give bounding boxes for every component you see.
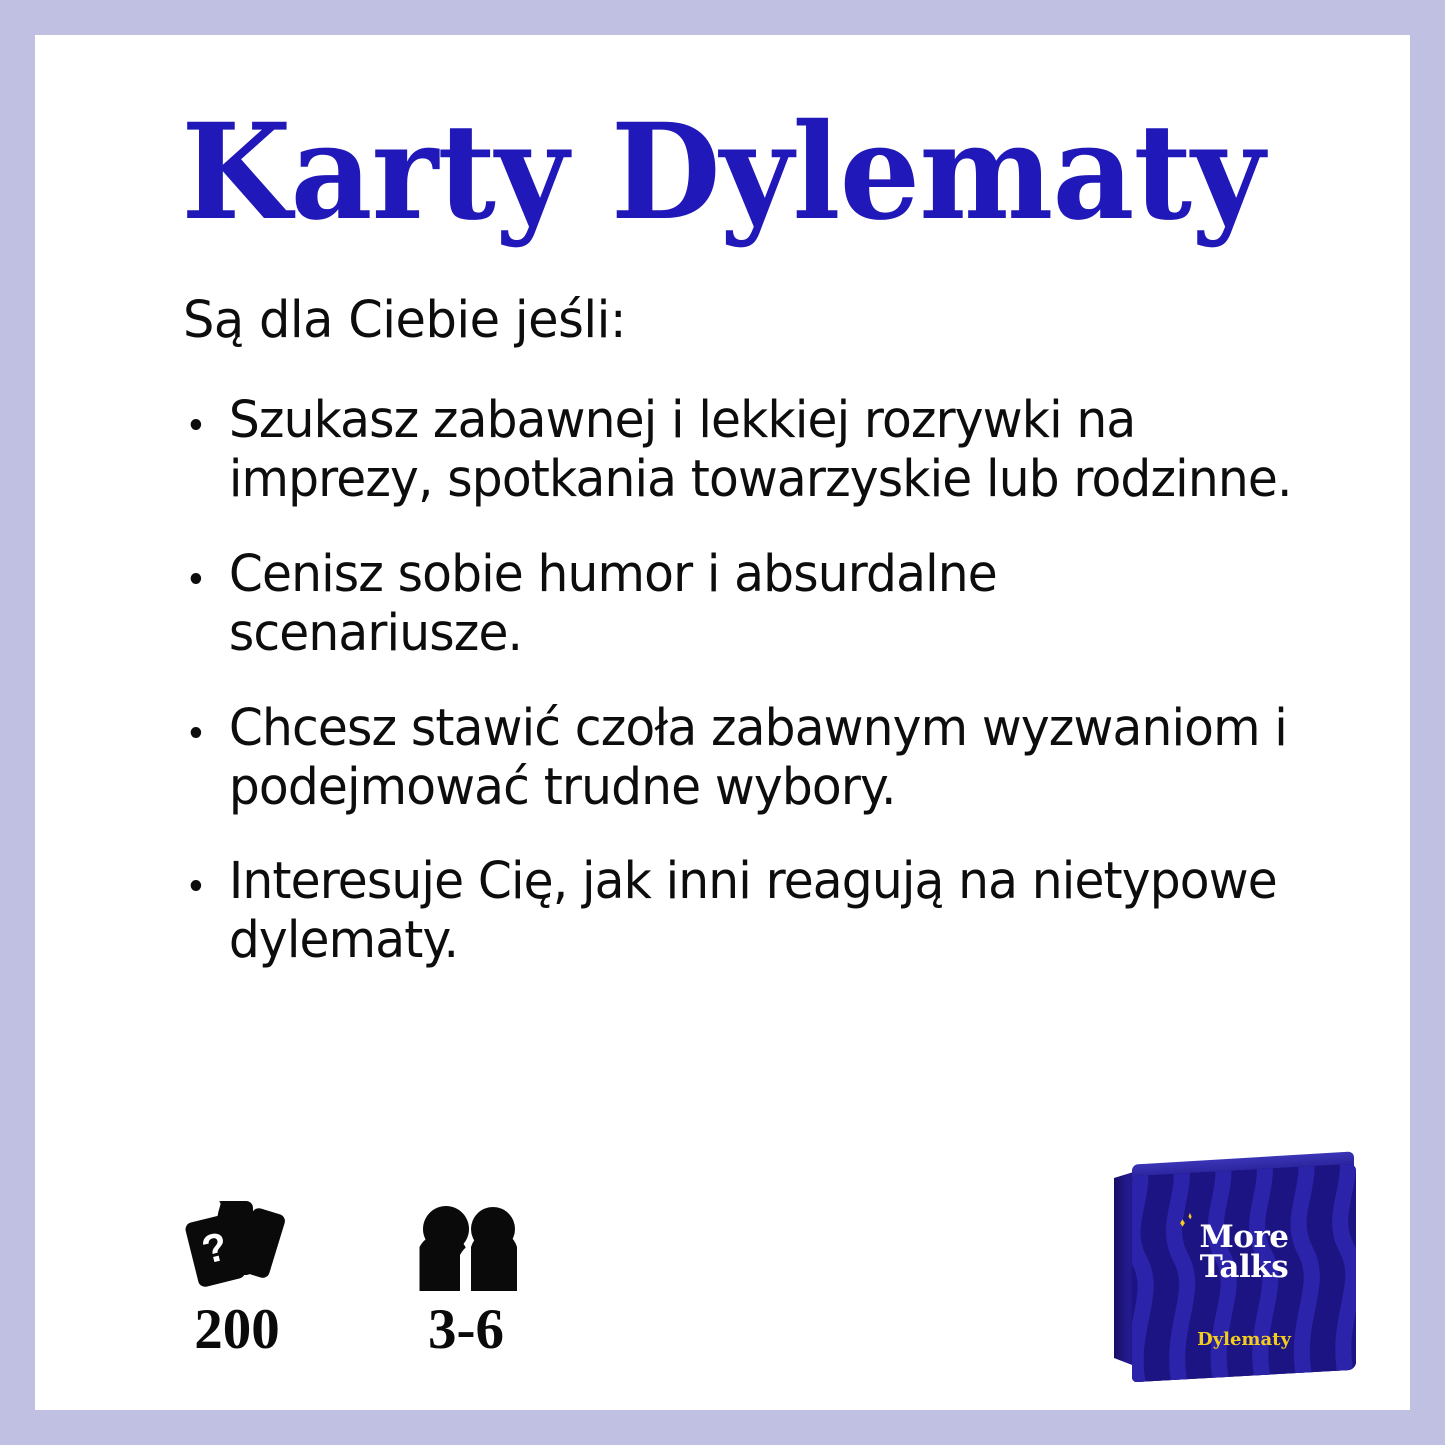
- list-item: Chcesz stawić czoła zabawnym wyzwaniom i…: [183, 700, 1297, 818]
- list-item-text: Cenisz sobie humor i absurdalne scenariu…: [229, 545, 997, 663]
- list-item-text: Interesuje Cię, jak inni reagują na niet…: [229, 852, 1277, 970]
- page-title: Karty Dylematy: [63, 107, 1383, 239]
- list-item: Szukasz zabawnej i lekkiej rozrywki na i…: [183, 392, 1297, 510]
- bullet-dot-icon: [191, 880, 202, 891]
- two-people-icon: [407, 1195, 525, 1291]
- spec-label: 3-6: [428, 1301, 504, 1358]
- bullet-dot-icon: [191, 727, 202, 738]
- sparkle-icon: [1177, 1212, 1199, 1234]
- bullet-dot-icon: [191, 573, 202, 584]
- box-brand-lockup: More Talks: [1132, 1222, 1356, 1283]
- content-block: Są dla Ciebie jeśli: Szukasz zabawnej i …: [183, 293, 1350, 971]
- brand-line-2: Talks: [1200, 1249, 1288, 1285]
- box-front-face: More Talks Dylematy: [1132, 1164, 1356, 1383]
- list-item: Interesuje Cię, jak inni reagują na niet…: [183, 853, 1297, 971]
- lead-text: Są dla Ciebie jeśli:: [183, 293, 1315, 348]
- spec-card-count: ? 200: [185, 1195, 289, 1358]
- benefit-list: Szukasz zabawnej i lekkiej rozrywki na i…: [183, 392, 1350, 971]
- playing-cards-icon: ?: [185, 1195, 289, 1291]
- list-item: Cenisz sobie humor i absurdalne scenariu…: [183, 546, 1297, 664]
- product-box-image: More Talks Dylematy: [1114, 1142, 1370, 1388]
- list-item-text: Chcesz stawić czoła zabawnym wyzwaniom i…: [229, 699, 1287, 817]
- spec-player-count: 3-6: [407, 1195, 525, 1358]
- game-specs: ? 200 3-6: [185, 1195, 525, 1358]
- box-edition-label: Dylematy: [1132, 1329, 1356, 1350]
- poster-root: Karty Dylematy Są dla Ciebie jeśli: Szuk…: [0, 0, 1445, 1445]
- list-item-text: Szukasz zabawnej i lekkiej rozrywki na i…: [229, 391, 1292, 509]
- white-card-panel: Karty Dylematy Są dla Ciebie jeśli: Szuk…: [35, 35, 1410, 1410]
- brand-name: More Talks: [1199, 1222, 1288, 1283]
- spec-label: 200: [194, 1301, 280, 1358]
- bullet-dot-icon: [191, 419, 202, 430]
